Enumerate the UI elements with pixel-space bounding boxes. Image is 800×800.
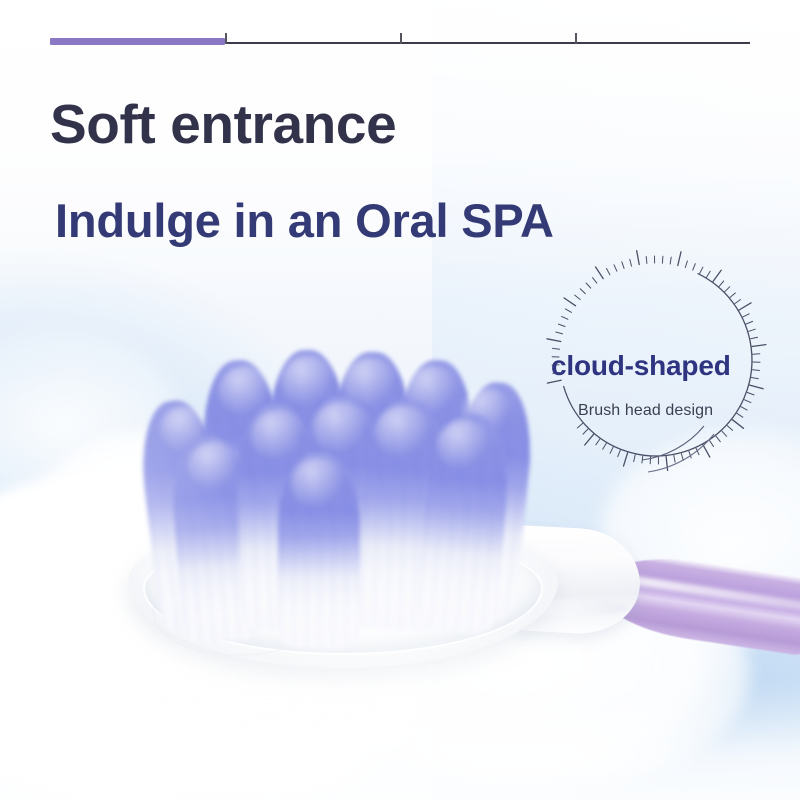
progress-fill-active xyxy=(50,38,225,45)
progress-tick xyxy=(225,33,227,44)
progress-tick xyxy=(575,33,577,44)
bristle-tuft xyxy=(278,452,360,648)
product-banner: Soft entrance Indulge in an Oral SPA clo… xyxy=(0,0,800,800)
page-subtitle: Indulge in an Oral SPA xyxy=(55,196,554,245)
callout-subtitle: Brush head design xyxy=(578,402,713,420)
progress-tick xyxy=(400,33,402,44)
page-title: Soft entrance xyxy=(50,96,396,152)
progress-steps[interactable] xyxy=(50,33,750,47)
callout-title: cloud-shaped xyxy=(551,350,731,382)
